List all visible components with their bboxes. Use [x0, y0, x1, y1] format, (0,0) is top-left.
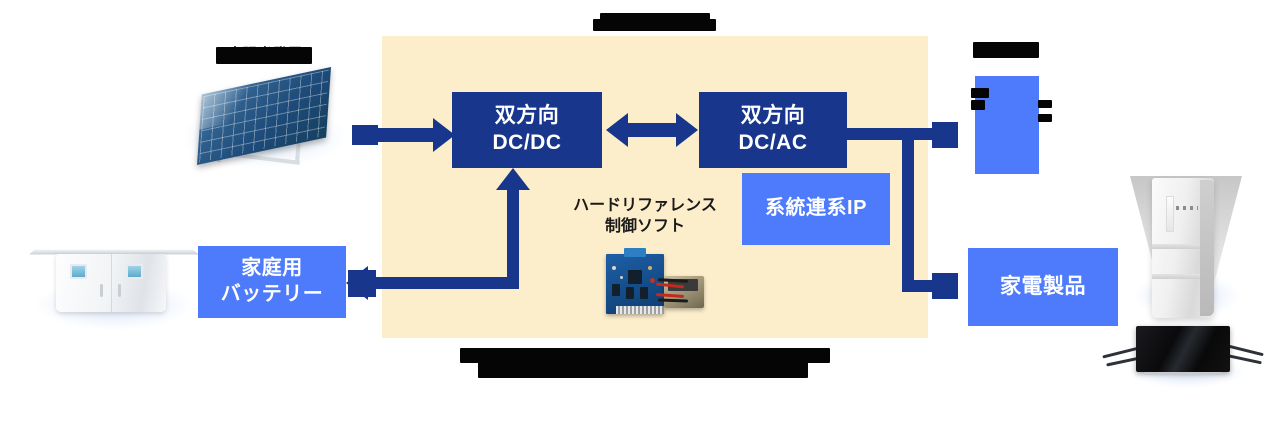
grid-box-text-redacted-4: [1038, 114, 1052, 122]
footer-caption-redacted-line1: [460, 348, 830, 363]
battery-door-seam: [111, 254, 112, 312]
circuit-board-photo: [598, 248, 710, 328]
software-label-line1: ハードリファレンス: [565, 196, 725, 217]
box-bidirectional-dcac[interactable]: 双方向 DC/AC: [699, 92, 847, 168]
panel-title-redacted-2: [593, 19, 716, 31]
grid-box-text-redacted-1: [971, 88, 989, 98]
diagram-canvas: 太陽光発電 双方向 DC/DC 双方向 DC/AC 系統連系IP ハードリファレ…: [0, 0, 1265, 421]
pcb-dot-3: [620, 276, 623, 279]
appliance-arrow-stub: [932, 273, 958, 299]
battery-arrow-head-up: [496, 168, 530, 190]
pcb-dot-1: [612, 266, 616, 270]
grid-label-redacted: [973, 42, 1039, 58]
grid-box-text-redacted-3: [1038, 100, 1052, 108]
battery-handle-right: [118, 284, 121, 297]
pcb-top-module: [624, 248, 646, 257]
dcdc-dcac-shaft: [625, 123, 679, 137]
battery-loop-vertical: [507, 190, 519, 282]
grid-box-text-redacted-2: [971, 100, 985, 110]
battery-body: [56, 254, 166, 312]
pcb-chip-a: [612, 284, 620, 296]
box-dcac-line1: 双方向: [741, 103, 806, 130]
battery-display-left: [70, 264, 87, 279]
box-home-battery[interactable]: 家庭用 バッテリー: [198, 246, 346, 318]
battery-display-right: [126, 264, 143, 279]
battery-cabinet-photo: [28, 238, 200, 330]
output-vertical-drop: [902, 134, 914, 286]
box-home-battery-line1: 家庭用: [241, 256, 303, 282]
solar-label-redacted: [216, 47, 312, 64]
solar-panel-photo: [178, 72, 350, 172]
footer-caption-redacted-line2: [478, 362, 808, 378]
software-label-line2: 制御ソフト: [565, 217, 725, 238]
battery-handle-left: [100, 284, 103, 297]
television-stand: [1144, 372, 1222, 375]
pcb-dot-4: [650, 278, 655, 283]
dcdc-dcac-head-right: [676, 113, 698, 147]
refrigerator-indicator-dots: [1176, 206, 1198, 210]
television-screen: [1136, 326, 1230, 372]
refrigerator-photo: [1138, 178, 1234, 343]
battery-arrow-head-left: [346, 266, 368, 300]
pcb-dot-2: [648, 266, 652, 270]
box-home-appliances-label: 家電製品: [1000, 274, 1086, 301]
television-photo: [1128, 326, 1246, 388]
box-home-appliances[interactable]: 家電製品: [968, 248, 1118, 326]
refrigerator-panel-badge: [1166, 196, 1174, 232]
pcb-chip-c: [640, 287, 648, 299]
box-home-battery-line2: バッテリー: [221, 282, 324, 308]
pcb-chip-b: [626, 287, 634, 299]
battery-loop-horizontal: [375, 277, 519, 289]
box-dcac-line2: DC/AC: [739, 130, 808, 157]
dcdc-dcac-head-left: [606, 113, 628, 147]
pcb-connector-strip: [616, 306, 664, 314]
box-grid-ip-label: 系統連系IP: [765, 196, 867, 222]
software-label: ハードリファレンス 制御ソフト: [565, 196, 725, 238]
refrigerator-side: [1200, 180, 1214, 316]
box-bidirectional-dcdc[interactable]: 双方向 DC/DC: [452, 92, 602, 168]
box-dcdc-line2: DC/DC: [493, 130, 562, 157]
pcb-chip-main: [628, 270, 642, 284]
solar-arrow-shaft: [375, 128, 437, 142]
grid-arrow-stub: [932, 122, 958, 148]
box-grid-interconnection-ip[interactable]: 系統連系IP: [742, 173, 890, 245]
box-dcdc-line1: 双方向: [495, 103, 560, 130]
